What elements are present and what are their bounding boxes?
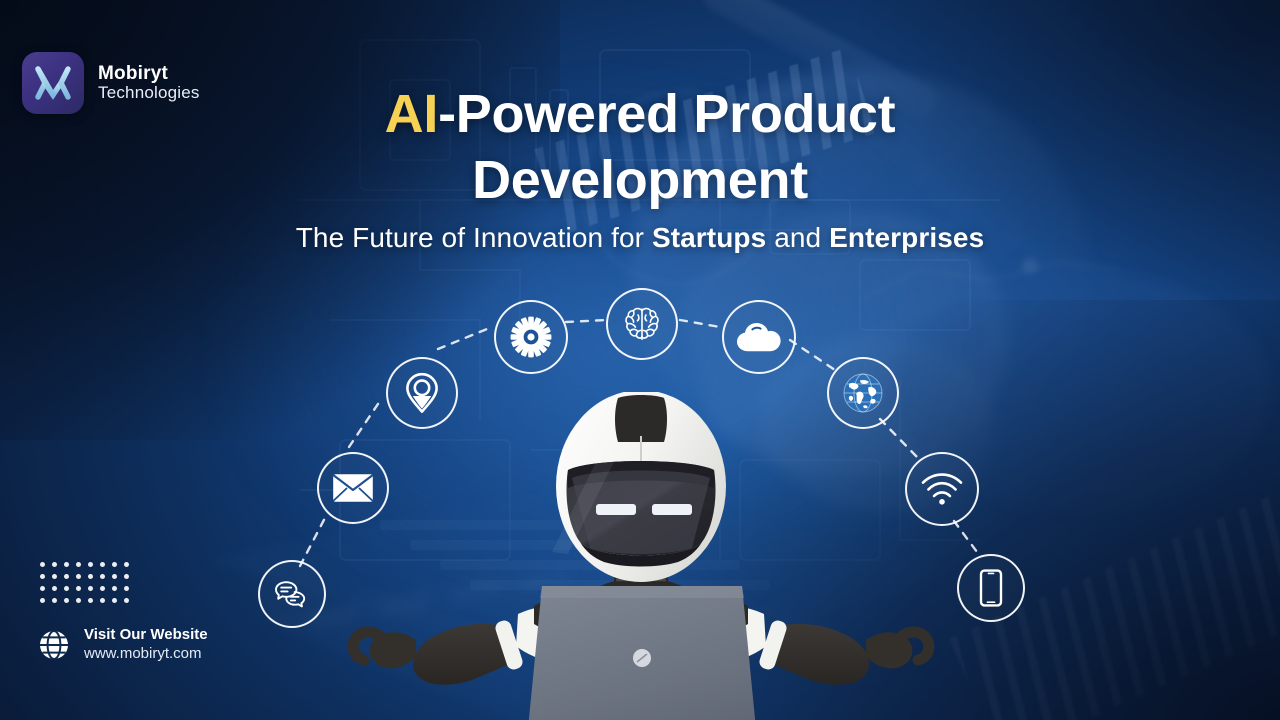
poster-canvas: Mobiryt Technologies AI-Powered Product … [0, 0, 1280, 720]
robot-laptop [522, 586, 762, 720]
website-url: www.mobiryt.com [84, 645, 208, 664]
arc-node-cloud[interactable] [722, 300, 796, 374]
gear-icon [510, 316, 552, 358]
website-cta[interactable]: Visit Our Website www.mobiryt.com [38, 626, 208, 664]
website-cta-label: Visit Our Website [84, 626, 208, 645]
cloud-icon [736, 321, 782, 353]
robot-eye-right [652, 504, 692, 515]
decorative-dot-grid [40, 562, 136, 610]
ai-robot-illustration [296, 392, 986, 720]
arc-node-settings[interactable] [494, 300, 568, 374]
arc-node-ai-brain[interactable] [606, 288, 678, 360]
robot-head [552, 392, 726, 582]
robot-eye-left [596, 504, 636, 515]
globe-icon [38, 629, 70, 661]
brain-icon [622, 304, 662, 344]
